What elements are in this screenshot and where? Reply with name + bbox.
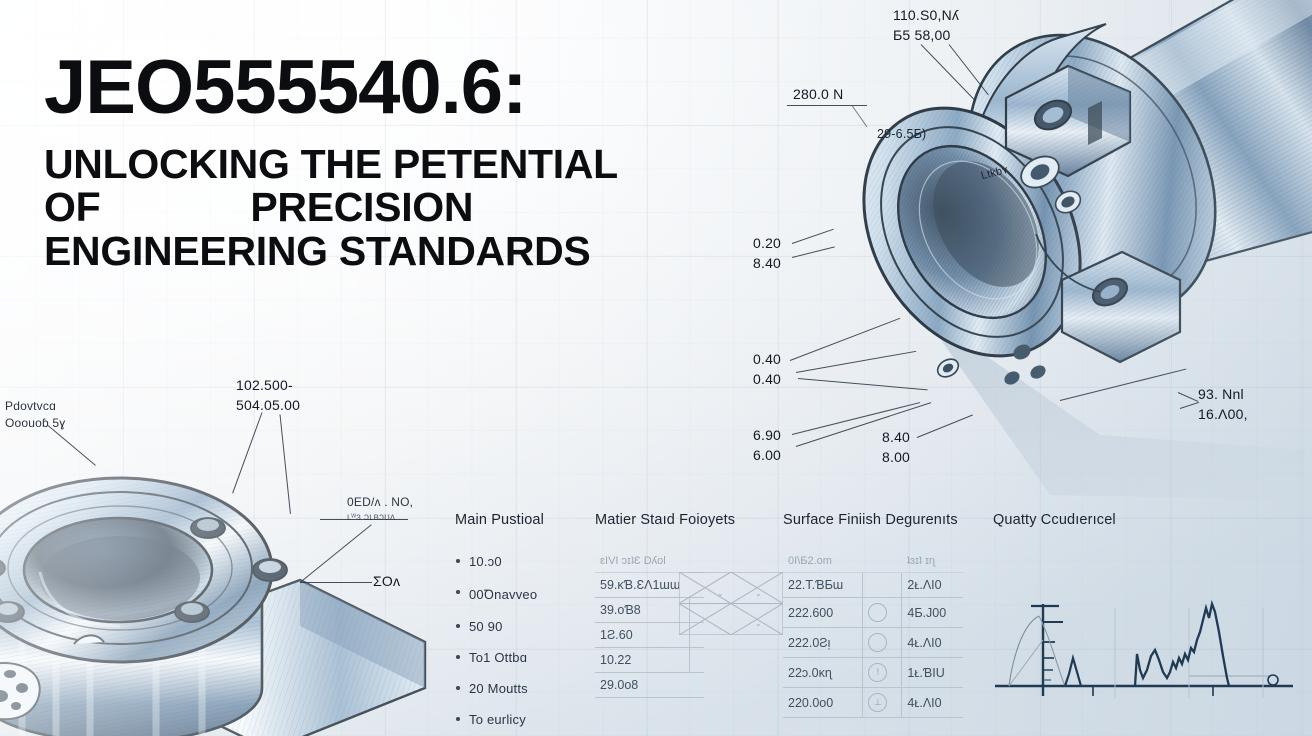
- list-item: To eurlicy: [469, 712, 590, 727]
- dimension-value: 0.40: [753, 350, 781, 370]
- hatched-cell-block: ⌄ ⌄ ⌄: [679, 572, 783, 635]
- dimension-value: 110.S0,Nʎ: [893, 6, 959, 26]
- dimension-tolerance: 8.00: [882, 448, 910, 468]
- table-cell: 22.T.ƁƂɯ: [783, 573, 863, 598]
- dimension-value: 280.0 N: [793, 85, 843, 105]
- column-header: Matier Staıd Foioyets: [595, 512, 780, 528]
- dimension-value: 0.20: [753, 234, 781, 254]
- list-item: 50 90: [469, 619, 590, 634]
- table-cell-icon: [863, 628, 902, 658]
- dimension-callout-left-e: 6.90 6.00: [753, 426, 781, 466]
- part-marking-top: 29-6.5Ƃ): [877, 126, 926, 144]
- svg-text:⌄: ⌄: [755, 589, 762, 598]
- table-row: 222.600 4Ƃ.J00: [783, 598, 963, 628]
- annotation-line-2: Ooouoɓ 5ɣ: [5, 415, 66, 432]
- quality-control-line-chart: [993, 546, 1311, 711]
- table-cell: [689, 550, 704, 573]
- data-marker: [1268, 675, 1278, 685]
- dimension-underline: [320, 519, 408, 520]
- table-cell: 22ᴐ.0ᴋɳ: [783, 658, 863, 688]
- column-quality-control-chart: Quatty Ccudıerıcel: [993, 512, 1312, 716]
- dimension-tolerance: 0.40: [753, 370, 781, 390]
- dimension-callout-top-b: 280.0 N: [793, 85, 843, 105]
- data-columns: Main Pustioal 10.ᴐ0 00Ꝺnavveo 50 90 To1 …: [455, 512, 1312, 722]
- perpendicularity-icon: [868, 693, 887, 712]
- dimension-underline: [787, 105, 867, 106]
- table-cell: 1ᴌ.ƁIU: [902, 658, 963, 688]
- dimension-value: 102.500-: [236, 376, 300, 396]
- table-row: 222.0Ƨᴉ 4ᴌ.ΛI0: [783, 628, 963, 658]
- table-cell: ɛIVI ɔɪʇƐ Dʎol: [595, 550, 689, 573]
- subtitle-line-3: ENGINEERING STANDARDS: [44, 228, 590, 274]
- dimension-tolerance: 8.40: [753, 254, 781, 274]
- list-item: To1 Ottbɑ: [469, 650, 590, 665]
- envelope-chord: [1009, 640, 1043, 686]
- column-matier-staid-foioyets: Matier Staıd Foioyets ɛIVI ɔɪʇƐ Dʎol 59.…: [595, 512, 780, 698]
- blueprint-poster: JEO555540.6: UNLOCKING THE PETENTIAL OFP…: [0, 0, 1312, 736]
- dimension-value: 6.90: [753, 426, 781, 446]
- table-row: 10.22: [595, 648, 704, 673]
- annotation-line-1: 0ED/ʌ . NO,: [347, 494, 413, 511]
- dimension-callout-housing-bore: 102.500- 504.05.00: [236, 376, 300, 416]
- table-cell-icon: [863, 573, 902, 598]
- column-header: Surface Finiish Degurenıts: [783, 512, 973, 528]
- table-cell: [689, 673, 704, 698]
- dimension-value: 8.40: [882, 428, 910, 448]
- subtitle-line-2a: OF: [44, 184, 100, 230]
- dimension-tolerance: 504.05.00: [236, 396, 300, 416]
- annotation-housing-surface: Pdovtvcɑ Ooouoɓ 5ɣ: [5, 398, 66, 432]
- data-table: 0I\Ƃ2.ᴏm ʇɜɪʇ ɪɳ 22.T.ƁƂɯ 2ᴌ.ΛI0 222.600…: [783, 550, 963, 718]
- dimension-tolerance: 16.Λ00,: [1198, 405, 1248, 425]
- table-cell: 4Ƃ.J00: [902, 598, 963, 628]
- page-title: JEO555540.6:: [44, 52, 784, 125]
- poster-heading: JEO555540.6: UNLOCKING THE PETENTIAL OFP…: [44, 52, 784, 273]
- table-cell-icon: [863, 688, 902, 718]
- dimension-tolerance: 6.00: [753, 446, 781, 466]
- table-cell: 29.0ᴏ8: [595, 673, 689, 698]
- table-row: 29.0ᴏ8: [595, 673, 704, 698]
- dimension-callout-mid-f: 8.40 8.00: [882, 428, 910, 468]
- dimension-callout-top-a: 110.S0,Nʎ Ƃ5 58,00: [893, 6, 959, 46]
- table-row: 22.T.ƁƂɯ 2ᴌ.ΛI0: [783, 573, 963, 598]
- column-surface-finish-degurenits: Surface Finiish Degurenıts 0I\Ƃ2.ᴏm ʇɜɪʇ…: [783, 512, 973, 718]
- warning-icon: [868, 663, 887, 682]
- table-cell: [863, 550, 902, 573]
- table-cell: 39.ᴏƁ8: [595, 598, 689, 623]
- table-subheader: ʇɜɪʇ ɪɳ: [902, 550, 963, 573]
- circle-icon: [868, 603, 887, 622]
- column-main-pustioal: Main Pustioal 10.ᴐ0 00Ꝺnavveo 50 90 To1 …: [455, 512, 590, 736]
- table-cell: 4ᴌ.ΛI0: [902, 688, 963, 718]
- annotation-line-1: Pdovtvcɑ: [5, 398, 66, 415]
- table-cell: 59.ᴋƁ.ƐΛ1ɯɯ: [595, 573, 689, 598]
- dimension-callout-left-c: 0.20 8.40: [753, 234, 781, 274]
- circle-icon: [868, 633, 887, 652]
- series-left-spike: [1065, 658, 1081, 686]
- table-cell: 2ᴌ.ΛI0: [902, 573, 963, 598]
- list-item: 00Ꝺnavveo: [469, 585, 590, 603]
- table-row: ɛIVI ɔɪʇƐ Dʎol: [595, 550, 704, 573]
- list-item: 10.ᴐ0: [469, 554, 590, 569]
- subtitle-line-2b: PRECISION: [250, 184, 473, 230]
- svg-text:⌄: ⌄: [755, 619, 762, 628]
- dimension-underline: [300, 582, 372, 583]
- table-subheader: 0I\Ƃ2.ᴏm: [783, 550, 863, 573]
- dimension-callout-right-g: 93. Nnl 16.Λ00,: [1198, 385, 1248, 425]
- svg-text:⌄: ⌄: [717, 589, 724, 598]
- table-cell: 220.0ᴏ0: [783, 688, 863, 718]
- spindle-bearing-assembly-drawing: [800, 0, 1312, 500]
- dimension-value: 93. Nnl: [1198, 385, 1248, 405]
- subtitle-line-1: UNLOCKING THE PETENTIAL: [44, 141, 618, 187]
- page-subtitle: UNLOCKING THE PETENTIAL OFPRECISION ENGI…: [44, 143, 759, 273]
- dimension-tolerance: Ƃ5 58,00: [893, 26, 959, 46]
- dimension-callout-left-d: 0.40 0.40: [753, 350, 781, 390]
- table-cell: 10.22: [595, 648, 689, 673]
- list-item: 20 Moutts: [469, 681, 590, 696]
- series-process-trace: [1135, 604, 1229, 686]
- dimension-callout-housing-height: ΣOʌ: [373, 572, 400, 592]
- column-header: Main Pustioal: [455, 512, 590, 528]
- table-cell: 222.600: [783, 598, 863, 628]
- bullet-list: 10.ᴐ0 00Ꝺnavveo 50 90 To1 Ottbɑ 20 Moutt…: [455, 554, 590, 727]
- table-row: 22ᴐ.0ᴋɳ 1ᴌ.ƁIU: [783, 658, 963, 688]
- table-cell: 222.0Ƨᴉ: [783, 628, 863, 658]
- table-cell-icon: [863, 658, 902, 688]
- table-row: 220.0ᴏ0 4ᴌ.ΛI0: [783, 688, 963, 718]
- table-cell: 4ᴌ.ΛI0: [902, 628, 963, 658]
- table-row: 0I\Ƃ2.ᴏm ʇɜɪʇ ɪɳ: [783, 550, 963, 573]
- table-cell-icon: [863, 598, 902, 628]
- annotation-housing-note: 0ED/ʌ . NO, ʟʷɜ ɔʟʙɔʊʌ: [347, 494, 413, 525]
- chart-title: Quatty Ccudıerıcel: [993, 512, 1312, 528]
- table-cell: [689, 648, 704, 673]
- table-cell: 1Ƨ.60: [595, 623, 689, 648]
